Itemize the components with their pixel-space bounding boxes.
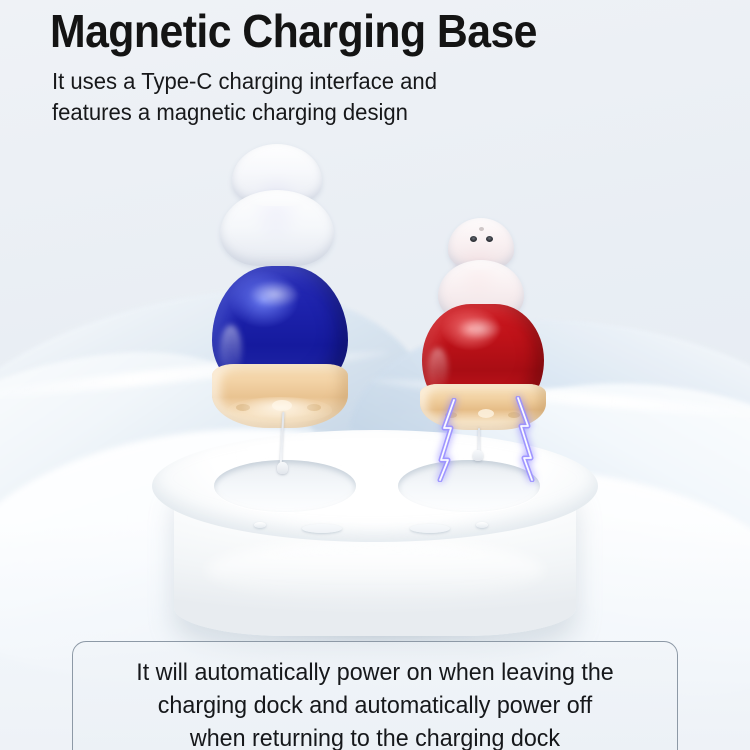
page-title: Magnetic Charging Base: [50, 4, 537, 58]
dock-indicator-1: [254, 522, 266, 528]
callout-line-1: It will automatically power on when leav…: [82, 656, 668, 689]
charge-arc-left-icon: [434, 398, 468, 482]
charge-arc-right-icon: [504, 396, 538, 482]
red-speaker-hole-2: [486, 236, 493, 242]
callout-text: It will automatically power on when leav…: [82, 656, 668, 750]
red-removal-wire-tip: [473, 450, 483, 461]
callout-line-3: when returning to the charging dock: [82, 722, 668, 750]
blue-ear-tip-lower-flange: [220, 190, 334, 266]
product-feature-image: Magnetic Charging Base It uses a Type-C …: [0, 0, 750, 750]
blue-hearing-aid: [196, 138, 364, 428]
blue-contact-1: [236, 404, 250, 411]
blue-contact-3: [307, 404, 321, 411]
blue-gold-base: [212, 364, 348, 428]
subtitle-line-1: It uses a Type-C charging interface and: [52, 66, 551, 97]
dock-indicator-3: [410, 524, 450, 533]
page-subtitle: It uses a Type-C charging interface and …: [52, 66, 551, 128]
feature-callout-box: It will automatically power on when leav…: [72, 641, 678, 750]
red-vent-hole: [479, 227, 484, 231]
red-contact-2: [478, 409, 494, 418]
red-speaker-hole-1: [470, 236, 477, 242]
blue-removal-wire-tip: [277, 462, 288, 474]
callout-line-2: charging dock and automatically power of…: [82, 689, 668, 722]
subtitle-line-2: features a magnetic charging design: [52, 97, 551, 128]
blue-contact-2: [272, 400, 292, 411]
dock-indicator-2: [302, 524, 342, 533]
dock-indicator-4: [476, 522, 488, 528]
